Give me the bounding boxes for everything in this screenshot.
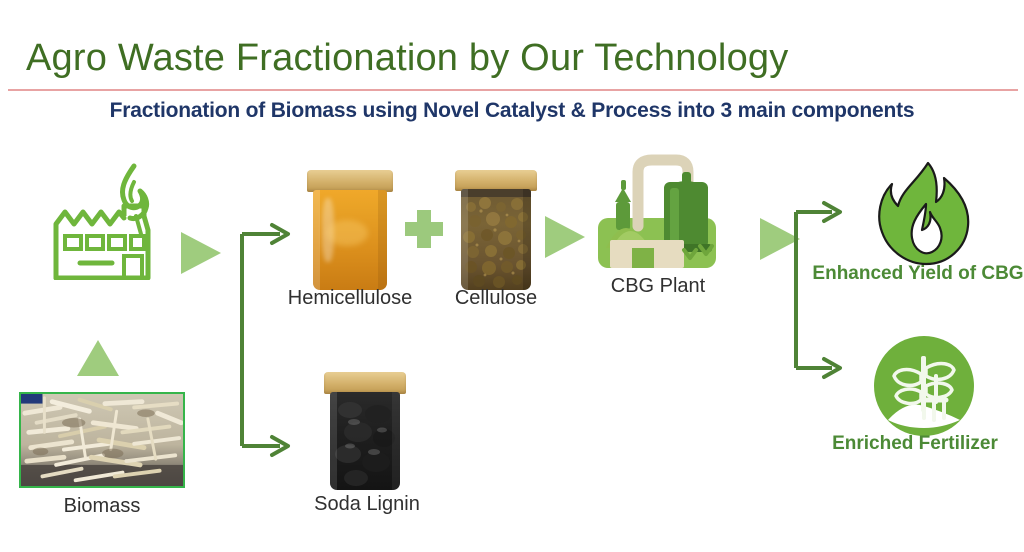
split-to-fractions [236, 220, 300, 460]
page-subtitle: Fractionation of Biomass using Novel Cat… [0, 99, 1024, 123]
hemicellulose-label: Hemicellulose [270, 286, 430, 310]
hemicellulose-jar [302, 170, 398, 290]
plus-icon [405, 210, 443, 248]
flame-icon [872, 160, 976, 270]
cellulose-jar [452, 170, 540, 290]
biomass-photo [19, 392, 185, 488]
factory-icon [36, 160, 172, 280]
arrow-jars-to-plant [545, 216, 585, 258]
soda-lignin-jar [320, 372, 410, 490]
enhanced-cbg-label: Enhanced Yield of CBG [812, 262, 1024, 286]
slide-canvas: Agro Waste Fractionation by Our Technolo… [0, 0, 1024, 552]
split-to-outputs [790, 200, 854, 380]
soda-lignin-label: Soda Lignin [292, 492, 442, 516]
fertilizer-icon [872, 334, 976, 438]
arrow-factory-to-split [181, 232, 221, 274]
cbg-plant-label: CBG Plant [578, 274, 738, 298]
page-title: Agro Waste Fractionation by Our Technolo… [26, 34, 788, 82]
enriched-fertilizer-label: Enriched Fertilizer [806, 432, 1024, 456]
cellulose-label: Cellulose [420, 286, 572, 310]
biomass-label: Biomass [19, 494, 185, 518]
title-divider [8, 89, 1018, 91]
cbg-plant-icon [592, 152, 724, 274]
arrow-biomass-to-factory [77, 340, 119, 376]
